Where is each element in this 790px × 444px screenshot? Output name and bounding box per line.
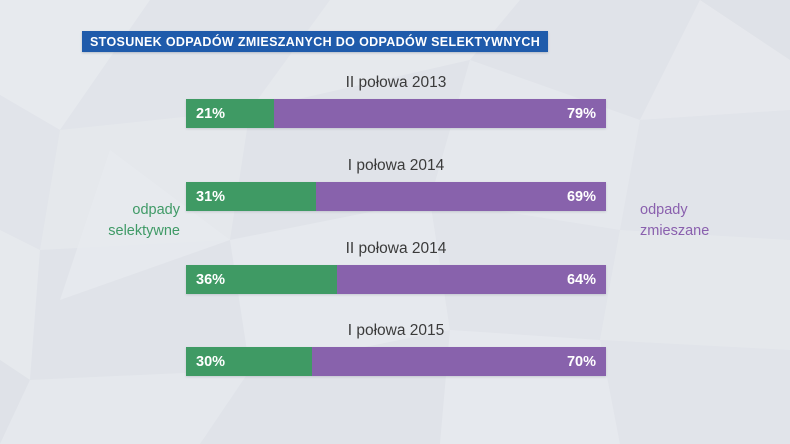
bar-segment-mixed: 70% — [312, 347, 606, 376]
bar-segment-mixed: 79% — [274, 99, 606, 128]
period-label: I połowa 2014 — [186, 157, 606, 175]
chart-title-bar: STOSUNEK ODPADÓW ZMIESZANYCH DO ODPADÓW … — [82, 31, 548, 52]
bar-segment-mixed: 64% — [337, 265, 606, 294]
bar-value-selective: 21% — [186, 106, 225, 122]
bar-group-3: I połowa 2015 30% 70% — [186, 322, 606, 376]
bar-group-1: I połowa 2014 31% 69% — [186, 157, 606, 211]
period-label: II połowa 2014 — [186, 240, 606, 258]
bar-segment-selective: 21% — [186, 99, 274, 128]
bar-value-selective: 30% — [186, 354, 225, 370]
stacked-bar: 21% 79% — [186, 99, 606, 128]
stacked-bar: 36% 64% — [186, 265, 606, 294]
bar-segment-mixed: 69% — [316, 182, 606, 211]
period-label: I połowa 2015 — [186, 322, 606, 340]
bar-segment-selective: 30% — [186, 347, 312, 376]
stacked-bar: 30% 70% — [186, 347, 606, 376]
bar-value-selective: 31% — [186, 189, 225, 205]
bar-value-mixed: 64% — [567, 272, 606, 288]
bar-value-selective: 36% — [186, 272, 225, 288]
period-label: II połowa 2013 — [186, 74, 606, 92]
stacked-bar: 31% 69% — [186, 182, 606, 211]
bar-value-mixed: 70% — [567, 354, 606, 370]
bar-value-mixed: 69% — [567, 189, 606, 205]
bar-segment-selective: 36% — [186, 265, 337, 294]
bar-group-0: II połowa 2013 21% 79% — [186, 74, 606, 128]
legend-label-selective: odpady selektywne — [40, 200, 180, 242]
bar-value-mixed: 79% — [567, 106, 606, 122]
page-title: STOSUNEK ODPADÓW ZMIESZANYCH DO ODPADÓW … — [90, 35, 540, 49]
bar-group-2: II połowa 2014 36% 64% — [186, 240, 606, 294]
legend-label-mixed: odpady zmieszane — [640, 200, 780, 242]
bar-segment-selective: 31% — [186, 182, 316, 211]
infographic-canvas: STOSUNEK ODPADÓW ZMIESZANYCH DO ODPADÓW … — [0, 0, 790, 444]
